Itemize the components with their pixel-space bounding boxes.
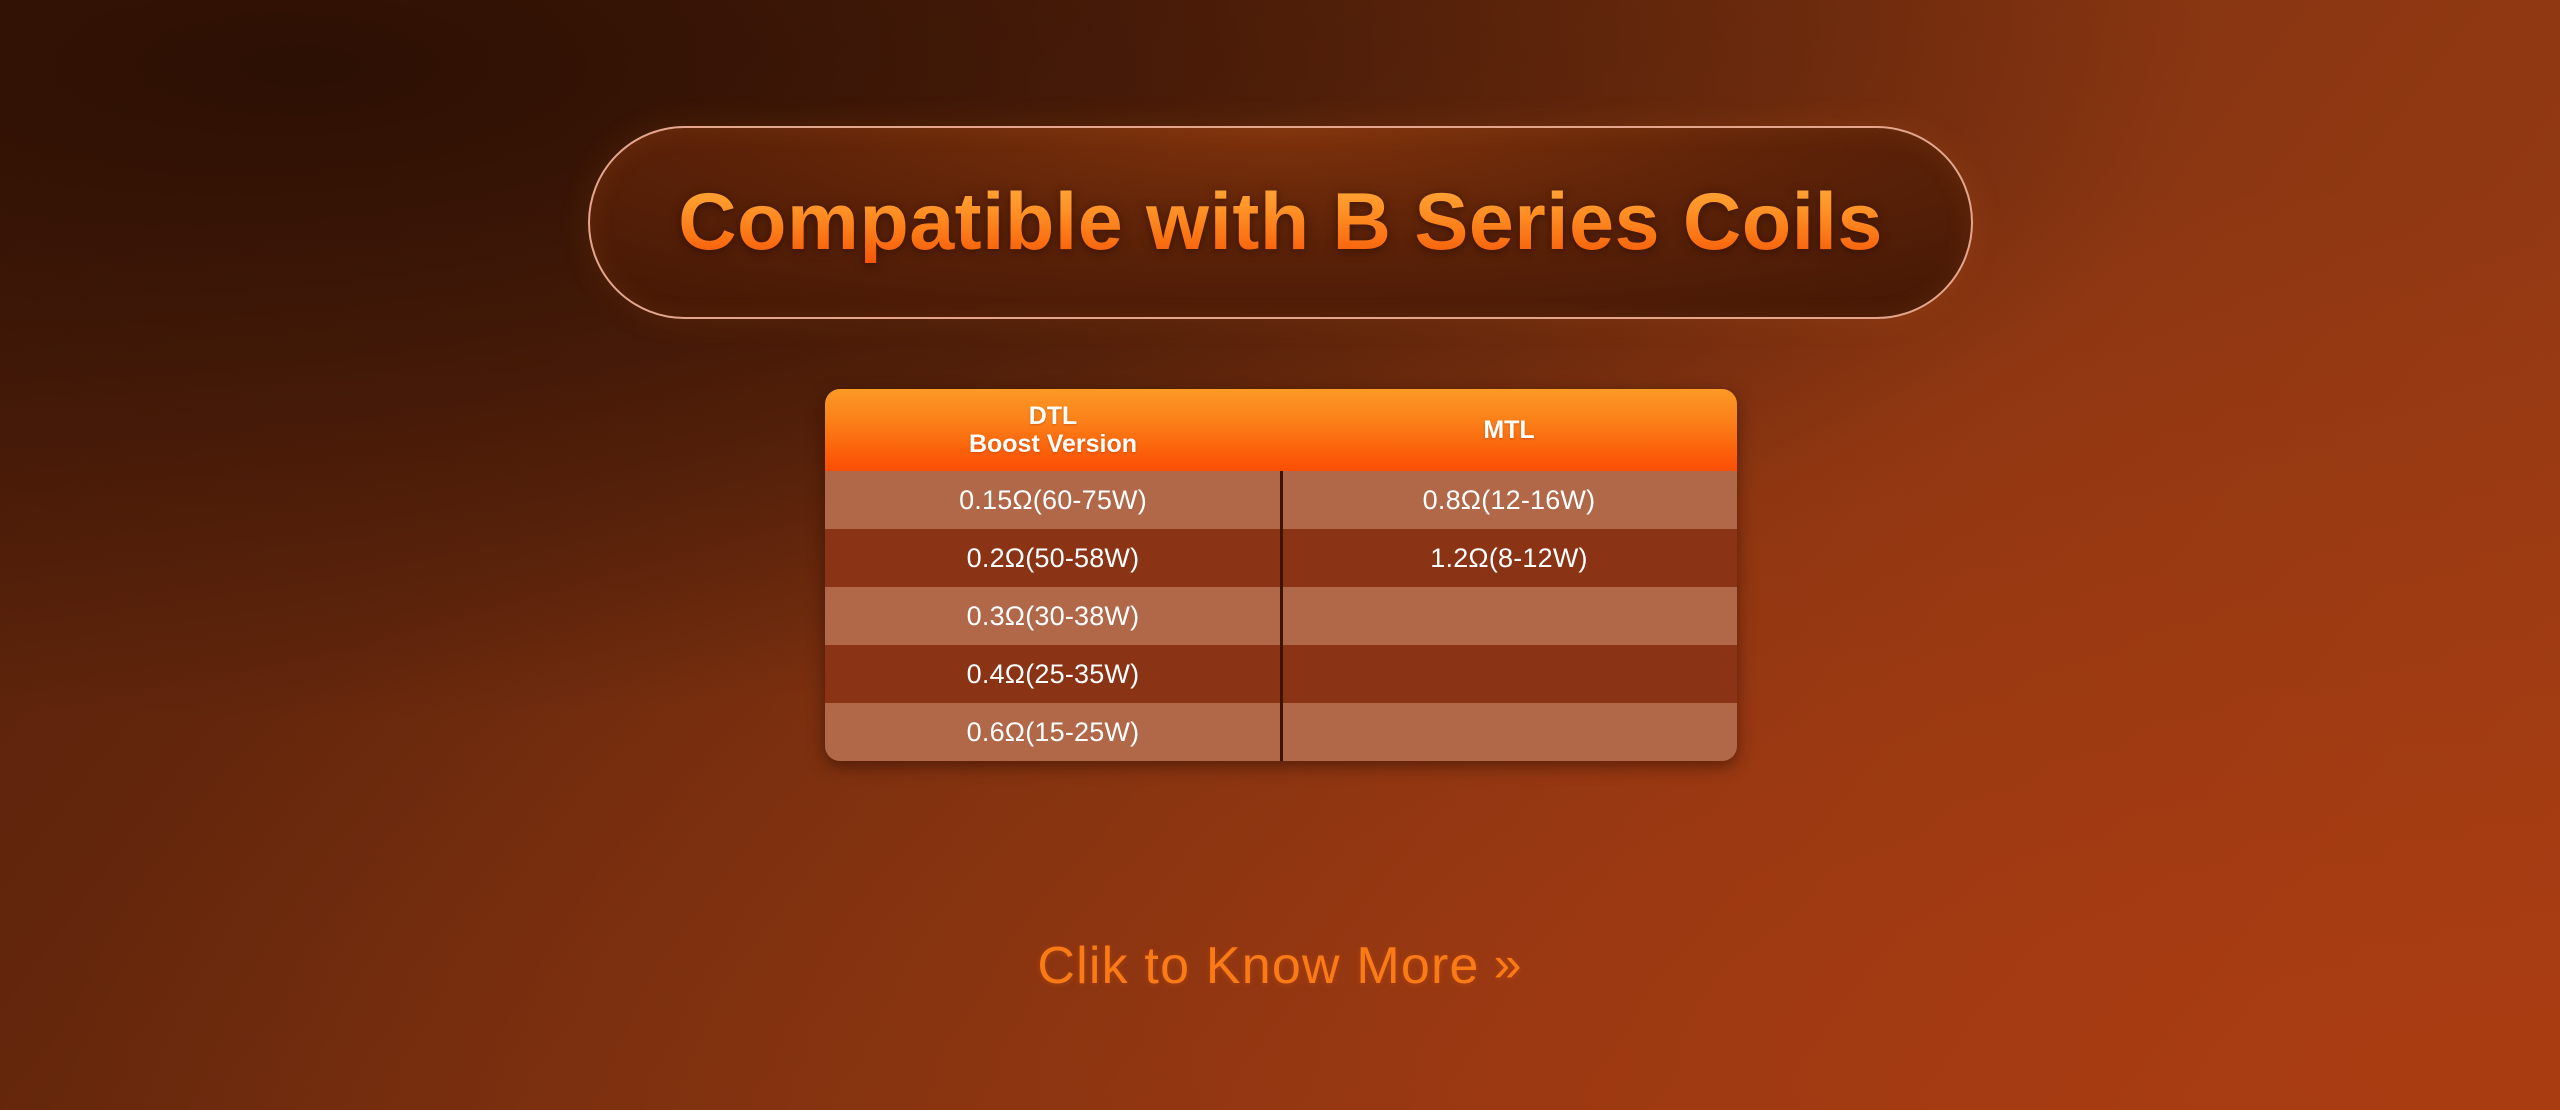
know-more-link[interactable]: Clik to Know More »: [1037, 940, 1522, 992]
coil-compatibility-table: DTL Boost Version MTL 0.15Ω(60-75W) 0.8Ω…: [825, 389, 1737, 761]
table-row: 0.6Ω(15-25W): [825, 703, 1737, 761]
cell-dtl: 0.6Ω(15-25W): [825, 703, 1281, 761]
cell-mtl: [1281, 587, 1737, 645]
cell-mtl: [1281, 703, 1737, 761]
table-header-dtl-line2: Boost Version: [969, 430, 1137, 459]
table-row: 0.2Ω(50-58W) 1.2Ω(8-12W): [825, 529, 1737, 587]
cell-dtl: 0.15Ω(60-75W): [825, 471, 1281, 529]
title-pill: Compatible with B Series Coils: [588, 126, 1973, 319]
promo-banner: Compatible with B Series Coils DTL Boost…: [0, 0, 2560, 1110]
table-header-dtl-line1: DTL: [1029, 402, 1078, 431]
know-more-label: Clik to Know More: [1037, 940, 1479, 992]
table-row: 0.4Ω(25-35W): [825, 645, 1737, 703]
double-chevron-right-icon: »: [1494, 939, 1523, 989]
table-header-dtl: DTL Boost Version: [825, 389, 1281, 471]
cell-dtl: 0.2Ω(50-58W): [825, 529, 1281, 587]
cell-mtl: 0.8Ω(12-16W): [1281, 471, 1737, 529]
cta-container: Clik to Know More »: [0, 940, 2560, 992]
table-header-row: DTL Boost Version MTL: [825, 389, 1737, 471]
page-title: Compatible with B Series Coils: [678, 182, 1883, 263]
cell-mtl: 1.2Ω(8-12W): [1281, 529, 1737, 587]
cell-dtl: 0.3Ω(30-38W): [825, 587, 1281, 645]
table-row: 0.3Ω(30-38W): [825, 587, 1737, 645]
cell-dtl: 0.4Ω(25-35W): [825, 645, 1281, 703]
table-body: 0.15Ω(60-75W) 0.8Ω(12-16W) 0.2Ω(50-58W) …: [825, 471, 1737, 761]
cell-mtl: [1281, 645, 1737, 703]
table-header-mtl: MTL: [1281, 389, 1737, 471]
table-header-mtl-line1: MTL: [1483, 416, 1534, 445]
table-row: 0.15Ω(60-75W) 0.8Ω(12-16W): [825, 471, 1737, 529]
